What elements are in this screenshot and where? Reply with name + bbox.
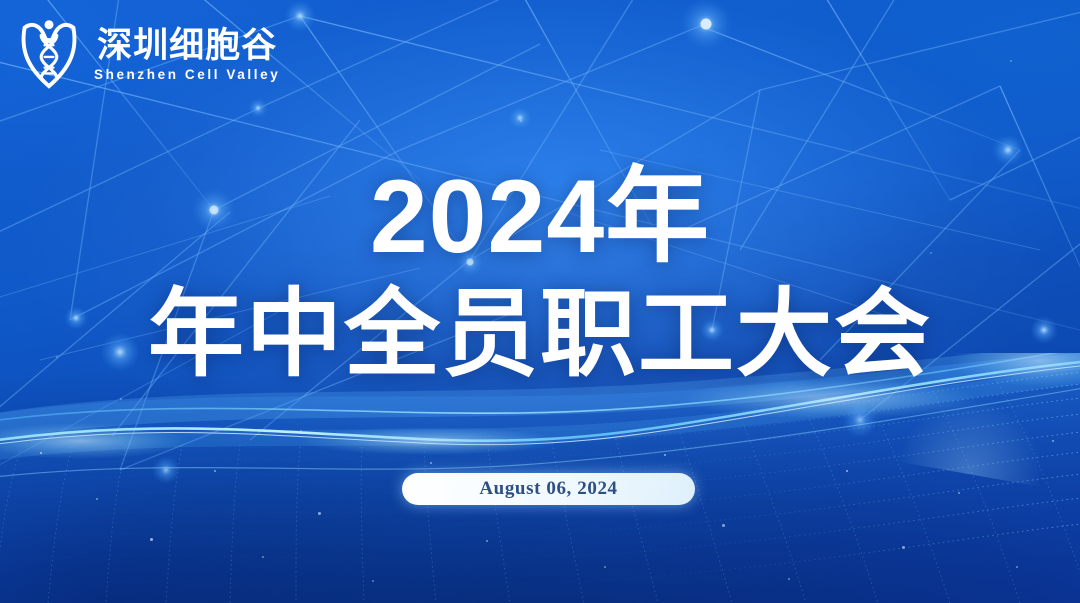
- dna-heart-icon: [14, 14, 84, 92]
- event-banner: 深圳细胞谷 Shenzhen Cell Valley 2024年 年中全员职工大…: [0, 0, 1080, 603]
- date-badge-label: August 06, 2024: [479, 478, 617, 500]
- title-line-2: 年中全员职工大会: [0, 287, 1080, 383]
- brand-logo[interactable]: 深圳细胞谷 Shenzhen Cell Valley: [14, 14, 280, 92]
- brand-wordmark: 深圳细胞谷 Shenzhen Cell Valley: [94, 24, 280, 83]
- title-line-1: 2024年: [0, 165, 1080, 269]
- date-badge: August 06, 2024: [402, 473, 695, 505]
- title-block: 2024年 年中全员职工大会: [0, 165, 1080, 383]
- brand-name-cn: 深圳细胞谷: [97, 28, 277, 65]
- brand-name-en: Shenzhen Cell Valley: [94, 67, 280, 82]
